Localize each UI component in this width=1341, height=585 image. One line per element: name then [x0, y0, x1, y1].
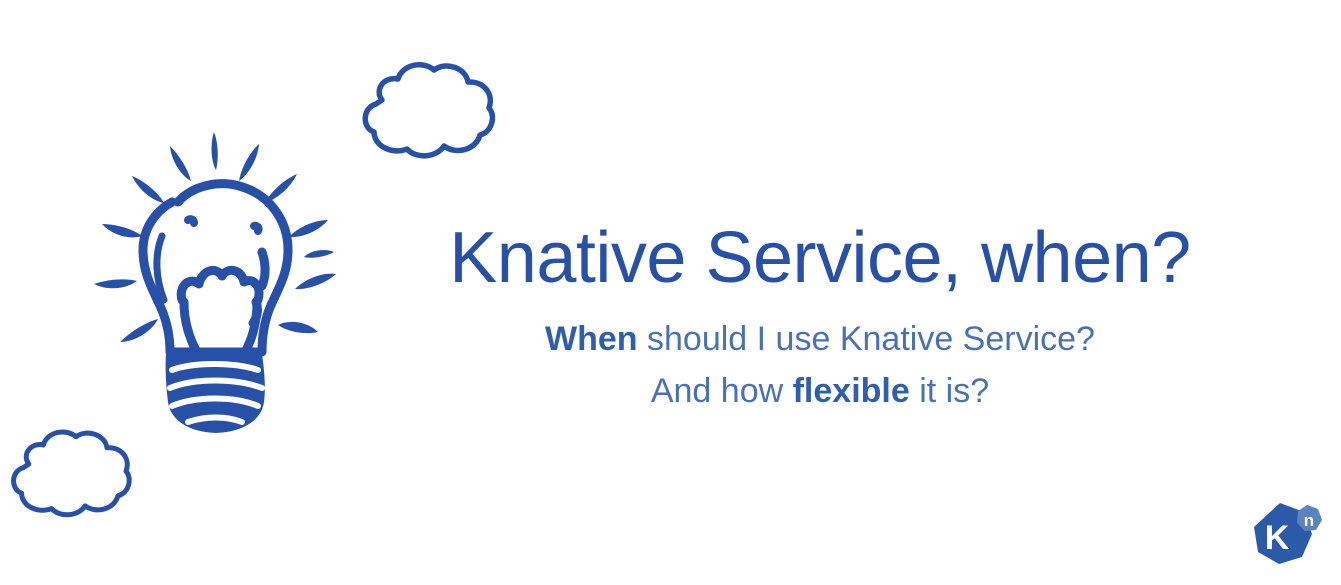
subtitle-line-2: And how flexible it is?	[400, 366, 1240, 418]
subtitle-line-1: When should I use Knative Service?	[400, 314, 1240, 366]
subtitle-block: When should I use Knative Service? And h…	[400, 314, 1240, 417]
subtitle-line-2-rest: it is?	[910, 372, 989, 410]
page-title: Knative Service, when?	[400, 222, 1240, 294]
knative-logo: K n	[1246, 500, 1326, 572]
logo-letter-n: n	[1304, 511, 1314, 530]
logo-letter-k: K	[1265, 519, 1290, 557]
cloud-bottom-icon	[0, 424, 142, 524]
slide-canvas: Knative Service, when? When should I use…	[0, 0, 1341, 585]
subtitle-line-2-lead: And how	[651, 372, 793, 410]
subtitle-line-1-rest: should I use Knative Service?	[638, 320, 1095, 358]
cloud-top-icon	[344, 56, 504, 166]
subtitle-line-1-strong: When	[545, 320, 638, 358]
text-block: Knative Service, when? When should I use…	[400, 222, 1240, 417]
lightbulb-icon	[66, 124, 362, 436]
subtitle-line-2-strong: flexible	[793, 372, 910, 410]
